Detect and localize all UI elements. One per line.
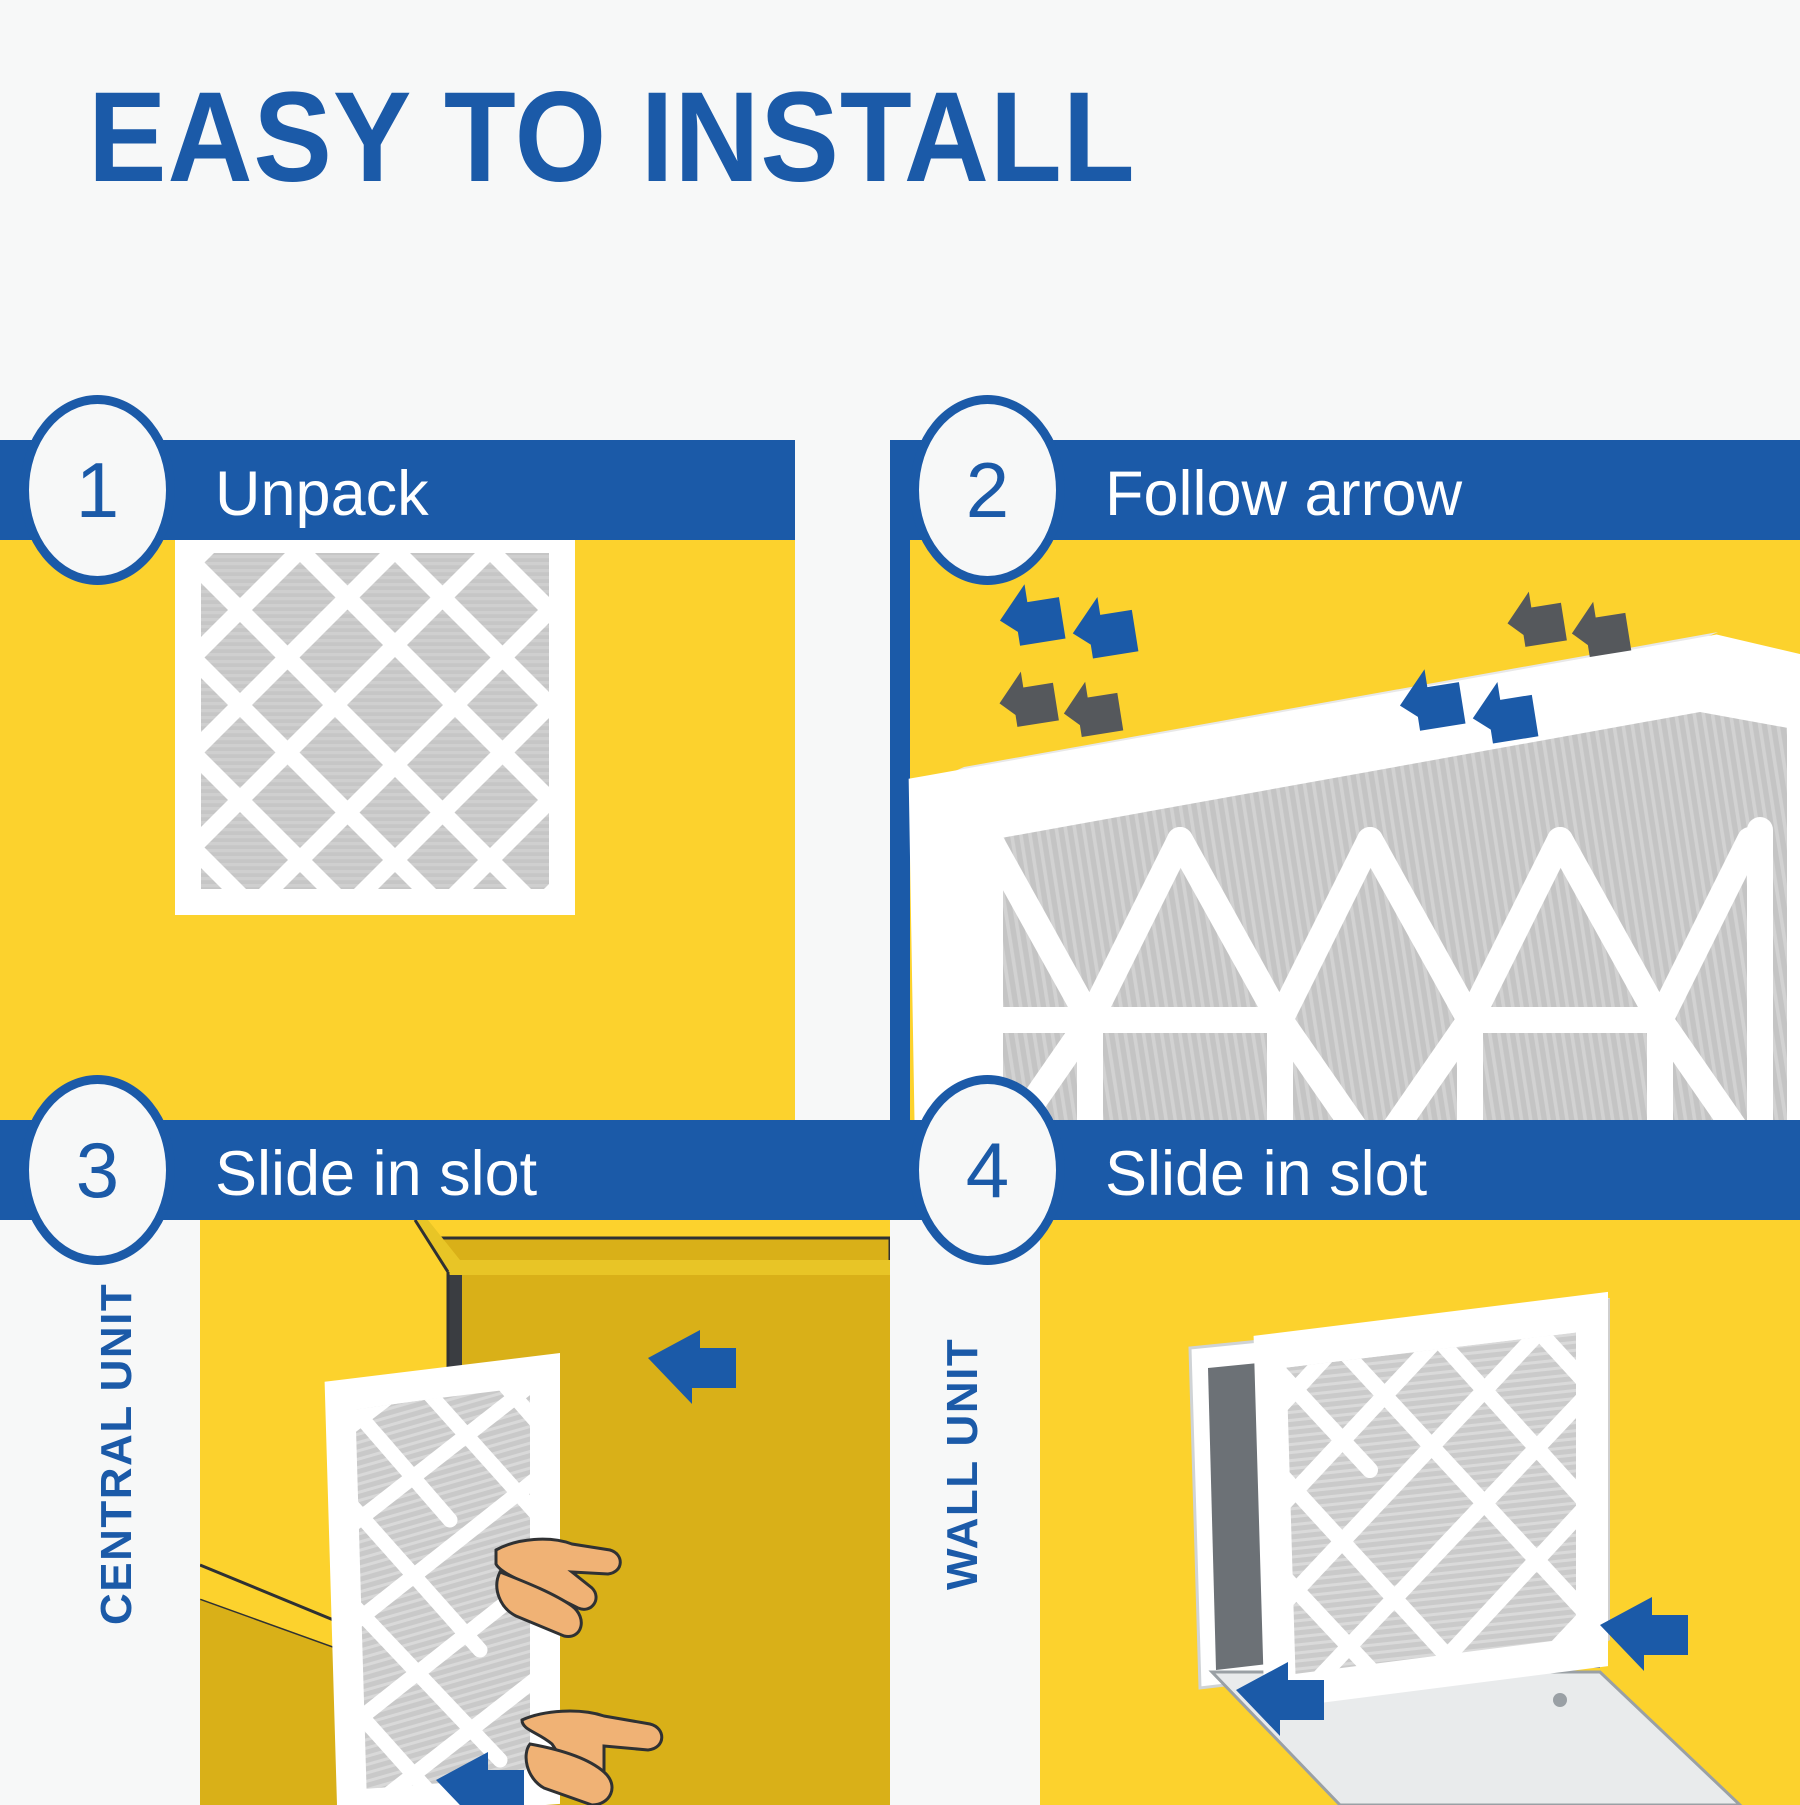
step-2-label: Follow arrow bbox=[1105, 458, 1462, 530]
step-panel-2: Follow arrow 2 bbox=[890, 440, 1800, 1120]
step-3-number-badge: 3 bbox=[20, 1075, 175, 1265]
tilted-filter-illustration bbox=[880, 590, 1800, 1150]
step-2-number-badge: 2 bbox=[910, 395, 1065, 585]
step-panel-1: Unpack 1 bbox=[0, 440, 795, 1120]
step-3-side-label: CENTRAL UNIT bbox=[92, 1283, 142, 1625]
infographic-canvas: EASY TO INSTALL bbox=[0, 0, 1800, 1800]
step-panel-4: WALL UNIT bbox=[890, 1120, 1800, 1800]
airflow-arrow-blue-left bbox=[1000, 560, 1160, 670]
airflow-arrow-gray-left bbox=[995, 657, 1123, 749]
wall-unit-illustration bbox=[1040, 1220, 1800, 1805]
step-1-label: Unpack bbox=[215, 458, 429, 530]
step-4-side-label: WALL UNIT bbox=[938, 1338, 988, 1590]
step-4-number-badge: 4 bbox=[910, 1075, 1065, 1265]
step-panel-3: CENTRAL UNIT bbox=[0, 1120, 890, 1800]
filter-front-illustration bbox=[170, 520, 590, 940]
step-3-label: Slide in slot bbox=[215, 1138, 537, 1210]
step-4-label: Slide in slot bbox=[1105, 1138, 1427, 1210]
airflow-arrow-blue-right bbox=[1400, 645, 1560, 755]
page-title: EASY TO INSTALL bbox=[88, 74, 1136, 202]
step-1-number-badge: 1 bbox=[20, 395, 175, 585]
central-unit-illustration bbox=[200, 1220, 890, 1805]
